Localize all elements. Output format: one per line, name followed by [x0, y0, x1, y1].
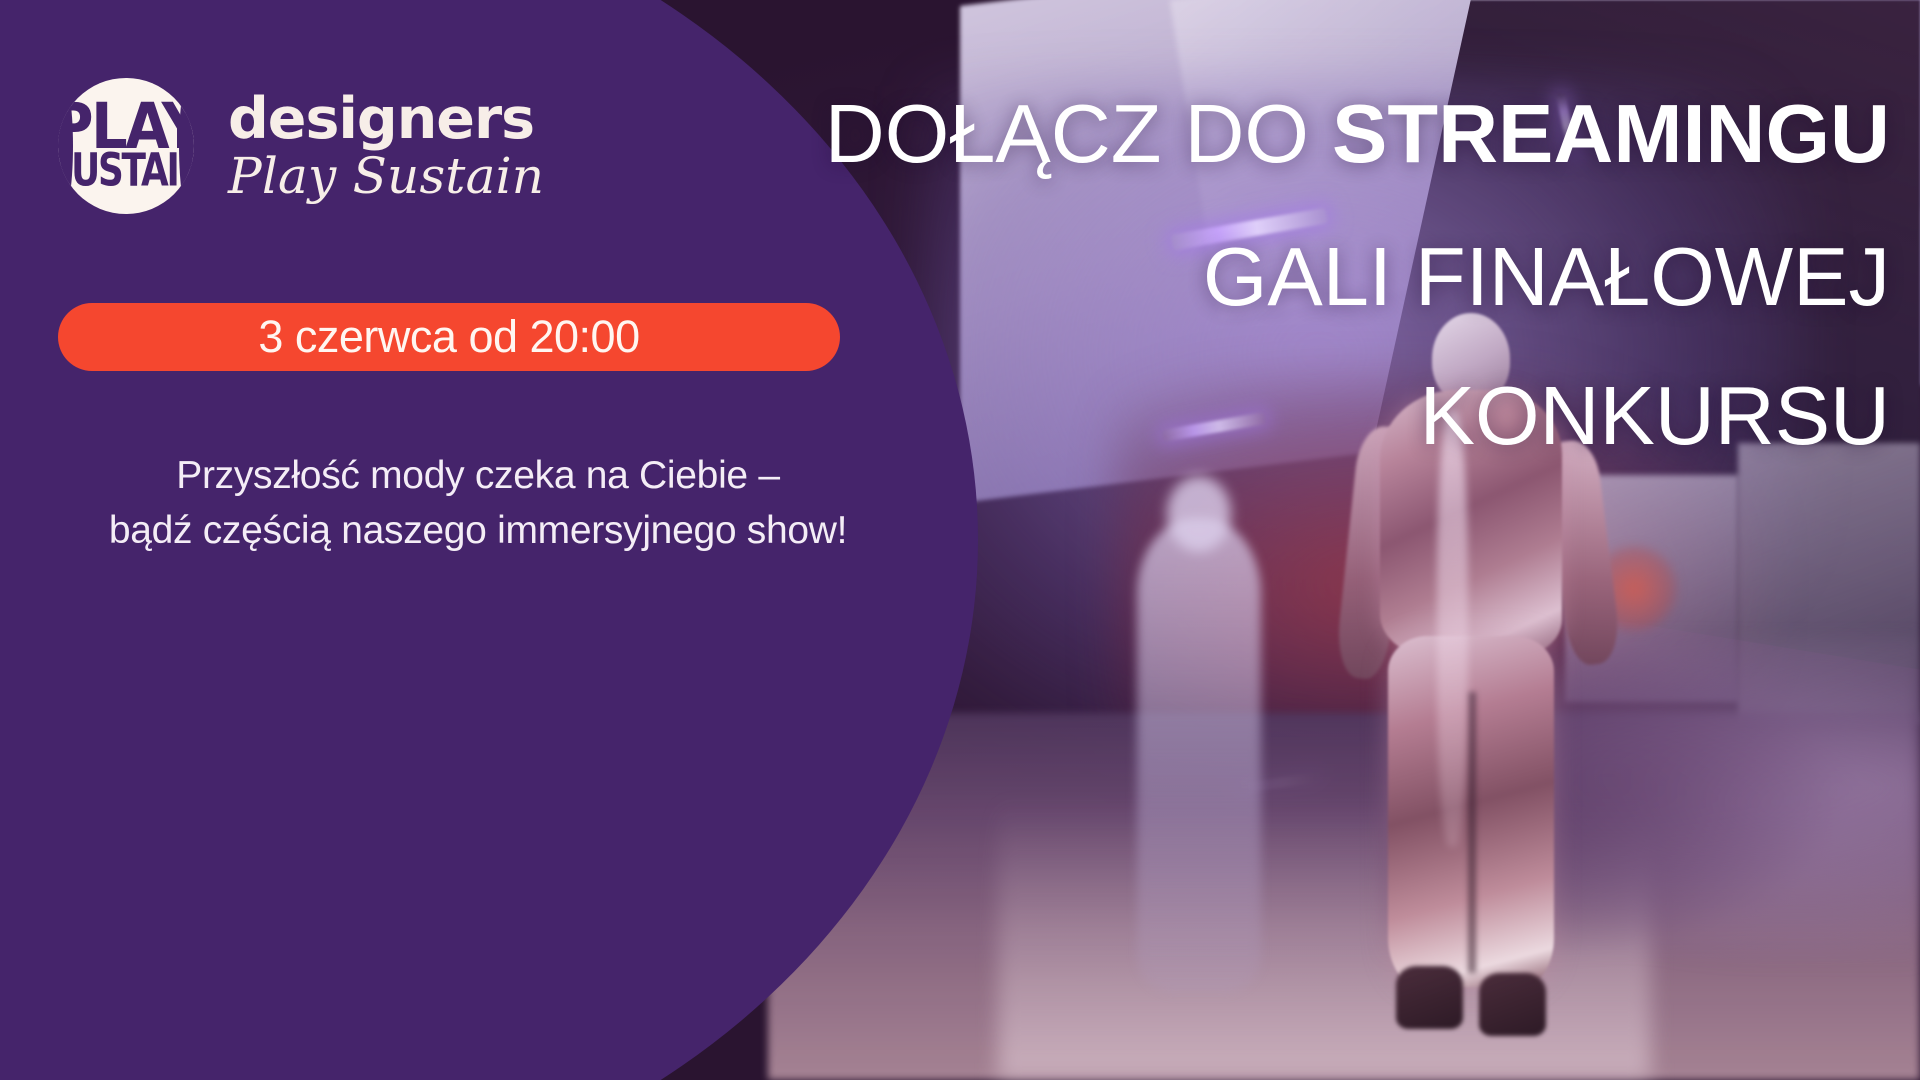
headline-line-3: KONKURSU	[700, 374, 1890, 457]
tagline: Przyszłość mody czeka na Ciebie – bądź c…	[58, 448, 898, 559]
logo-mask-right	[179, 78, 194, 214]
promo-banner: PLAY SUSTAIN designers Play Sustain 3 cz…	[0, 0, 1920, 1080]
headline-line-1: DOŁĄCZ DO STREAMINGU	[700, 92, 1890, 175]
play-sustain-logo-icon[interactable]: PLAY SUSTAIN	[58, 78, 194, 214]
headline: DOŁĄCZ DO STREAMINGU GALI FINAŁOWEJ KONK…	[700, 92, 1890, 457]
brand-name-designers: designers	[228, 90, 544, 148]
banner-content: PLAY SUSTAIN designers Play Sustain 3 cz…	[0, 0, 1920, 1080]
logo-word-sustain: SUSTAIN	[58, 151, 194, 188]
brand-lockup[interactable]: PLAY SUSTAIN designers Play Sustain	[58, 78, 544, 214]
headline-line-1-light: DOŁĄCZ DO	[825, 87, 1332, 180]
headline-line-2: GALI FINAŁOWEJ	[700, 235, 1890, 318]
brand-name-play-sustain: Play Sustain	[228, 150, 544, 203]
date-badge-label: 3 czerwca od 20:00	[258, 311, 639, 363]
headline-line-1-bold: STREAMINGU	[1332, 87, 1890, 180]
brand-wordmark: designers Play Sustain	[228, 90, 544, 203]
tagline-line-2: bądź częścią naszego immersyjnego show!	[58, 503, 898, 558]
